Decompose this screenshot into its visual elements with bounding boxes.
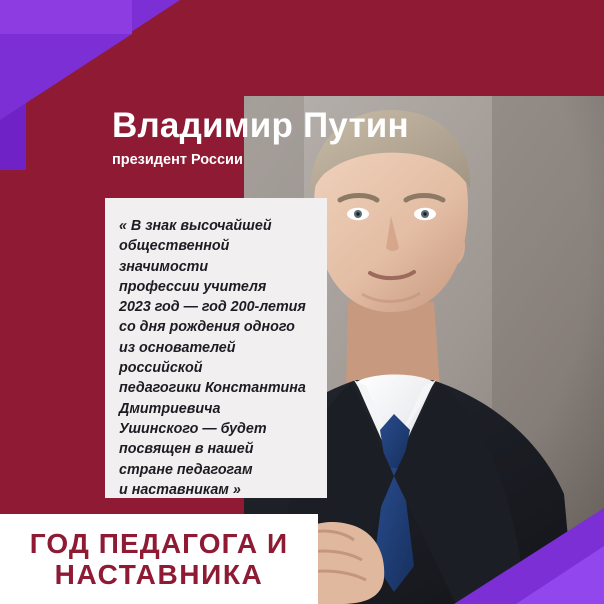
person-role: президент России — [112, 152, 472, 168]
quote-card: « В знак высочайшей общественной значимо… — [105, 198, 327, 498]
headline-block: Владимир Путин президент России — [112, 108, 472, 168]
banner-line-2: НАСТАВНИКА — [55, 559, 264, 590]
campaign-banner: ГОД ПЕДАГОГА И НАСТАВНИКА — [0, 514, 318, 604]
banner-line-1: ГОД ПЕДАГОГА И — [30, 528, 289, 559]
purple-triangle-bottom-right-inner — [516, 546, 604, 604]
quote-text: « В знак высочайшей общественной значимо… — [119, 216, 311, 500]
purple-bar-top-left — [0, 0, 132, 34]
person-name: Владимир Путин — [112, 108, 472, 145]
poster: Владимир Путин президент России « В знак… — [0, 0, 604, 604]
